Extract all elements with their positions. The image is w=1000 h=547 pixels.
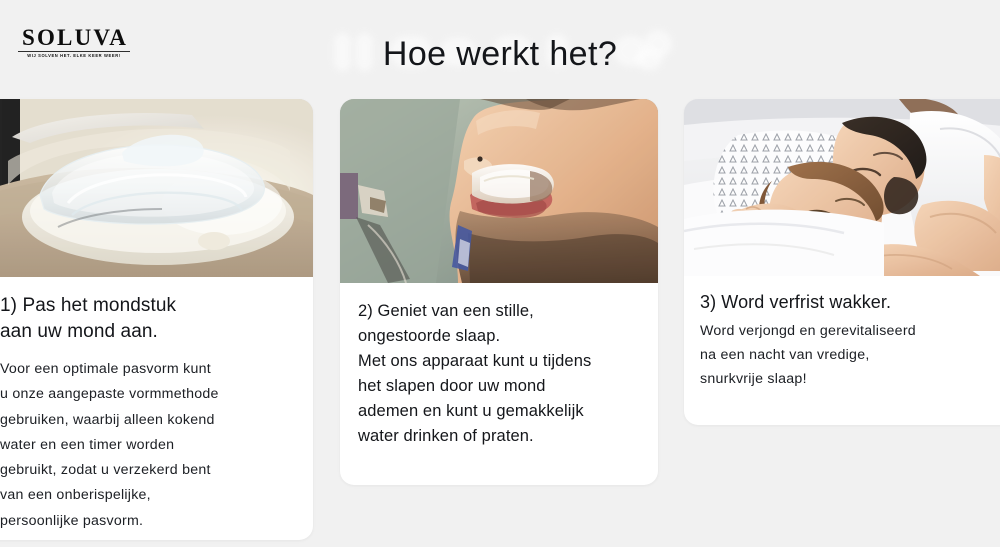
steps-section: 1) Pas het mondstuk aan uw mond aan. Voo… (0, 99, 1000, 547)
step-card-3[interactable]: 3) Word verfrist wakker. Word verjongd e… (684, 99, 1000, 425)
step-card-1-heading: 1) Pas het mondstuk aan uw mond aan. (0, 293, 291, 345)
sleeping-couple-photo (684, 99, 1000, 276)
step-card-2-heading: 2) Geniet van een stille, ongestoorde sl… (358, 299, 640, 449)
step-card-3-heading: 3) Word verfrist wakker. (700, 290, 1000, 315)
page-header: SOLUVA WIJ SOLVEN HET. ELKE KEER WEER! H… (0, 0, 1000, 99)
step-card-3-text: Word verjongd en gerevitaliseerd na een … (700, 319, 1000, 391)
step-card-1-text: Voor een optimale pasvorm kunt u onze aa… (0, 357, 291, 534)
step-card-1-body: 1) Pas het mondstuk aan uw mond aan. Voo… (0, 277, 313, 540)
mouthpiece-in-case-photo (0, 99, 313, 277)
step-card-3-body: 3) Word verfrist wakker. Word verjongd e… (684, 276, 1000, 409)
step-card-2-body: 2) Geniet van een stille, ongestoorde sl… (340, 283, 658, 467)
step-card-2[interactable]: 2) Geniet van een stille, ongestoorde sl… (340, 99, 658, 485)
page-title: Hoe werkt het? (0, 31, 1000, 77)
step-card-1[interactable]: 1) Pas het mondstuk aan uw mond aan. Voo… (0, 99, 313, 540)
man-wearing-mouthpiece-photo (340, 99, 658, 283)
